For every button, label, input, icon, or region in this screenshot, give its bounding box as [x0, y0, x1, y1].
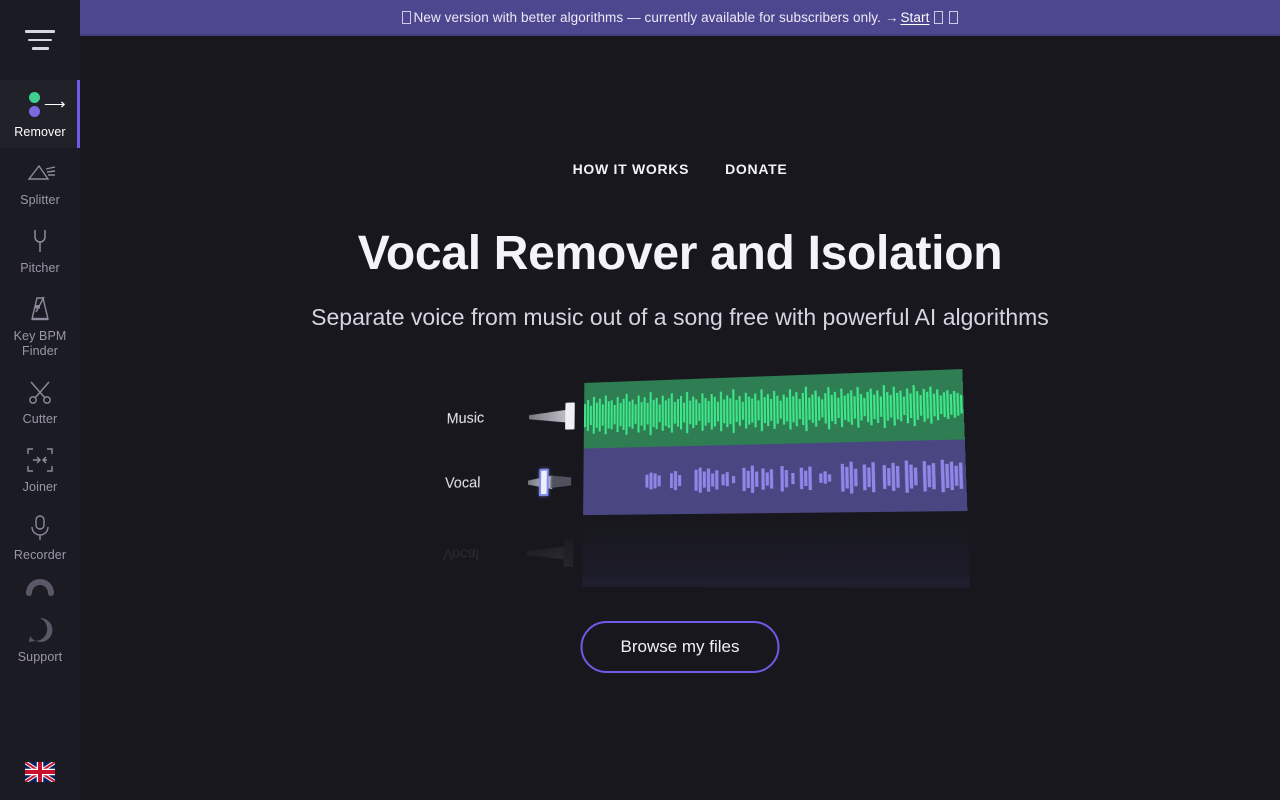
sidebar-nav-list: ⟶ Remover Splitter [0, 80, 80, 673]
sidebar-item-label-recorder: Recorder [14, 548, 66, 563]
nav-link-donate[interactable]: DONATE [725, 161, 787, 177]
volume-slider-vocal[interactable] [522, 462, 583, 502]
svg-text:?: ? [36, 622, 45, 638]
sidebar-item-splitter[interactable]: Splitter [0, 148, 80, 216]
sidebar-item-recorder[interactable]: Recorder [0, 503, 80, 571]
promo-banner: New version with better algorithms — cur… [80, 0, 1280, 36]
sidebar-item-pitcher[interactable]: Pitcher [0, 216, 80, 284]
page-root: New version with better algorithms — cur… [0, 0, 1280, 800]
joiner-arrows-icon [26, 445, 54, 475]
banner-start-link[interactable]: Start [900, 10, 929, 25]
sidebar: ⟶ Remover Splitter [0, 0, 80, 800]
sidebar-item-headphones[interactable] [0, 571, 80, 605]
top-navigation: HOW IT WORKS DONATE [80, 161, 1280, 177]
promo-banner-text: New version with better algorithms — cur… [399, 10, 962, 25]
page-title: Vocal Remover and Isolation [80, 226, 1280, 281]
hamburger-line-1-icon [25, 30, 55, 33]
hamburger-line-3-icon [32, 47, 49, 50]
waveform-music [584, 369, 965, 448]
remover-icon: ⟶ [23, 90, 57, 120]
tuning-fork-icon [28, 226, 52, 256]
sidebar-item-label-pitcher: Pitcher [20, 261, 60, 276]
track-label-vocal: Vocal [431, 474, 522, 493]
sidebar-item-cutter[interactable]: Cutter [0, 367, 80, 435]
illustration-track-vocal: Vocal [431, 439, 968, 516]
banner-trailing-glyph-1-icon [934, 11, 943, 24]
hamburger-line-2-icon [28, 39, 52, 42]
prism-icon [24, 158, 56, 188]
sidebar-item-label-key-bpm-finder: Key BPM Finder [2, 329, 78, 359]
sidebar-item-key-bpm-finder[interactable]: Key BPM Finder [0, 284, 80, 367]
banner-message: New version with better algorithms — cur… [414, 10, 899, 25]
page-subtitle: Separate voice from music out of a song … [80, 304, 1280, 331]
banner-trailing-glyph-2-icon [949, 11, 958, 24]
illustration-track-music: Music [432, 369, 964, 452]
sidebar-item-support[interactable]: ? Support [0, 605, 80, 673]
track-label-music: Music [433, 409, 524, 429]
sidebar-item-label-remover: Remover [14, 125, 65, 140]
waveform-vocal [583, 439, 967, 515]
banner-leading-glyph-icon [402, 11, 411, 24]
sidebar-item-joiner[interactable]: Joiner [0, 435, 80, 503]
sidebar-item-remover[interactable]: ⟶ Remover [0, 80, 80, 148]
browse-my-files-button[interactable]: Browse my files [580, 621, 779, 673]
sidebar-item-label-joiner: Joiner [23, 480, 58, 495]
tracks-illustration: Music [415, 376, 955, 586]
scissors-icon [27, 377, 53, 407]
hamburger-menu-button[interactable] [0, 0, 80, 80]
volume-slider-music[interactable] [523, 396, 584, 436]
illustration-reflection: Vocal [429, 513, 970, 588]
sidebar-item-label-cutter: Cutter [23, 412, 58, 427]
microphone-icon [29, 513, 51, 543]
united-kingdom-flag-icon[interactable] [25, 762, 55, 782]
reflection-label-vocal: Vocal [429, 544, 521, 562]
metronome-icon [27, 294, 53, 324]
question-mark-icon: ? [27, 615, 53, 645]
nav-link-how-it-works[interactable]: HOW IT WORKS [573, 161, 690, 177]
headphones-icon [25, 571, 55, 605]
main-content: HOW IT WORKS DONATE Vocal Remover and Is… [80, 36, 1280, 800]
sidebar-item-label-splitter: Splitter [20, 193, 60, 208]
sidebar-item-label-support: Support [18, 650, 62, 665]
